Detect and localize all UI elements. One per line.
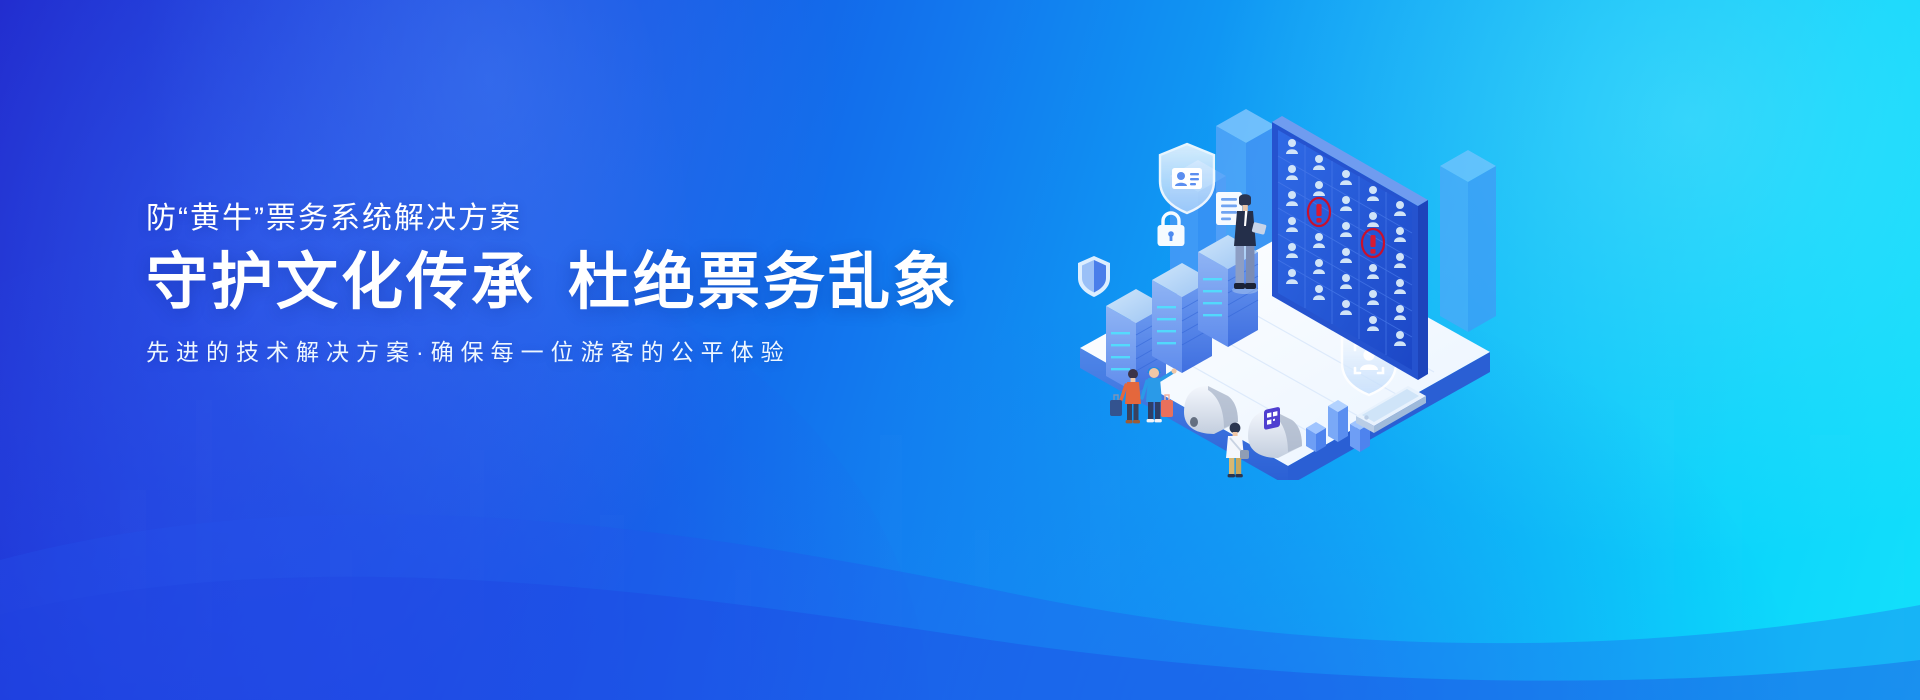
- security-shield-icon: [1078, 256, 1110, 297]
- id-card-shield-icon: [1160, 144, 1214, 213]
- hero-illustration: [1020, 80, 1540, 480]
- hero-banner: 防“黄牛”票务系统解决方案 守护文化传承杜绝票务乱象 先进的技术解决方案·确保每…: [0, 0, 1920, 700]
- banner-headline: 守护文化传承杜绝票务乱象: [146, 250, 906, 315]
- banner-copy: 防“黄牛”票务系统解决方案 守护文化传承杜绝票务乱象 先进的技术解决方案·确保每…: [146, 204, 906, 364]
- banner-subline: 先进的技术解决方案·确保每一位游客的公平体验: [146, 341, 906, 364]
- illustration-svg: [1020, 80, 1540, 480]
- headline-part-1: 守护文化传承: [146, 248, 536, 317]
- bottom-wave: [0, 410, 1920, 700]
- pillar-right: [1440, 150, 1496, 332]
- headline-part-2: 杜绝票务乱象: [568, 248, 958, 317]
- qr-scanner-icon[interactable]: [1264, 407, 1280, 430]
- banner-eyebrow: 防“黄牛”票务系统解决方案: [146, 204, 906, 234]
